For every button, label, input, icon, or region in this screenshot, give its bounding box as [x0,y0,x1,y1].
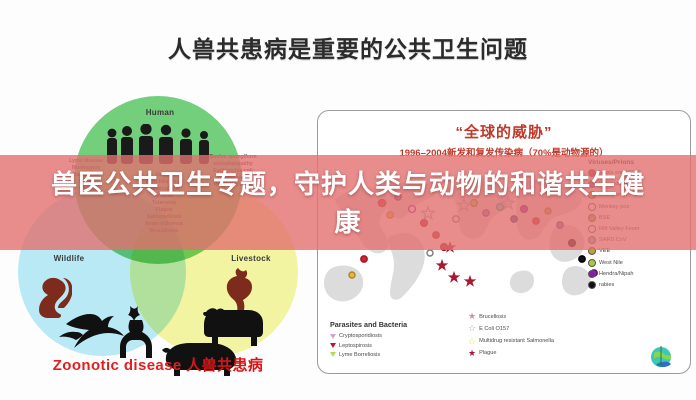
bacteria-item: ☆ E Coli O157 [468,324,668,333]
bacteria-legend: ★ Brucellosis ☆ E Coli O157 ☆ Multidrug … [468,312,668,361]
bacteria-label: Plague [479,350,496,356]
legend-item: West Nile [588,259,684,267]
legend-dot-icon [588,270,596,278]
legend-label: Hendra/Nipah [599,271,634,277]
zoonotic-banner-en: Zoonotic disease [53,357,182,374]
star-icon: ★ [468,349,476,358]
bacteria-label: Brucellosis [479,314,506,320]
legend-label: rabies [599,282,614,288]
parasite-item: Cryptosporidiosis [330,333,440,339]
parasite-label: Lyme Borreliosis [339,352,380,358]
venn-label-human: Human [132,108,188,117]
bacteria-item: ★ Brucellosis [468,312,668,321]
map-panel-title: “全球的威胁” [318,121,690,142]
overlay-headline: 兽医公共卫生专题，守护人类与动物的和谐共生健康 [48,165,648,241]
globe-icon [648,343,674,369]
legend-dot-icon [588,281,596,289]
parasite-item: Lyme Borreliosis [330,352,440,358]
headline-overlay-band: 兽医公共卫生专题，守护人类与动物的和谐共生健康 [0,155,696,250]
parasite-item: Leptospirosis [330,343,440,349]
parasites-heading: Parasites and Bacteria [330,320,440,329]
legend-item: Hendra/Nipah [588,270,684,278]
infographic-canvas: 人兽共患病是重要的公共卫生问题 Human Wildlife Livestock… [0,0,696,400]
bacteria-item: ★ Plague [468,349,668,358]
legend-dot-icon [588,259,596,267]
legend-label: West Nile [599,260,623,266]
parasite-label: Cryptosporidiosis [339,333,382,339]
zoonotic-banner: Zoonotic disease 人兽共患病 [0,354,316,375]
zoonotic-banner-cn: 人兽共患病 [186,357,263,374]
page-title: 人兽共患病是重要的公共卫生问题 [0,30,696,64]
venn-label-wildlife: Wildlife [38,254,100,263]
star-icon: ☆ [468,324,476,333]
bacteria-item: ☆ Multidrug resistant Salmonella [468,337,668,346]
bacteria-label: Multidrug resistant Salmonella [479,338,554,344]
triangle-down-icon [330,334,336,339]
venn-label-livestock: Livestock [218,254,284,263]
parasite-label: Leptospirosis [339,343,372,349]
triangle-down-icon [330,352,336,357]
legend-item: rabies [588,281,684,289]
star-icon: ☆ [468,337,476,346]
deer-silhouette-icon [108,302,158,358]
triangle-down-icon [330,343,336,348]
parasites-legend: Parasites and Bacteria Cryptosporidiosis… [330,320,440,361]
star-icon: ★ [468,312,476,321]
bacteria-label: E Coli O157 [479,326,509,332]
